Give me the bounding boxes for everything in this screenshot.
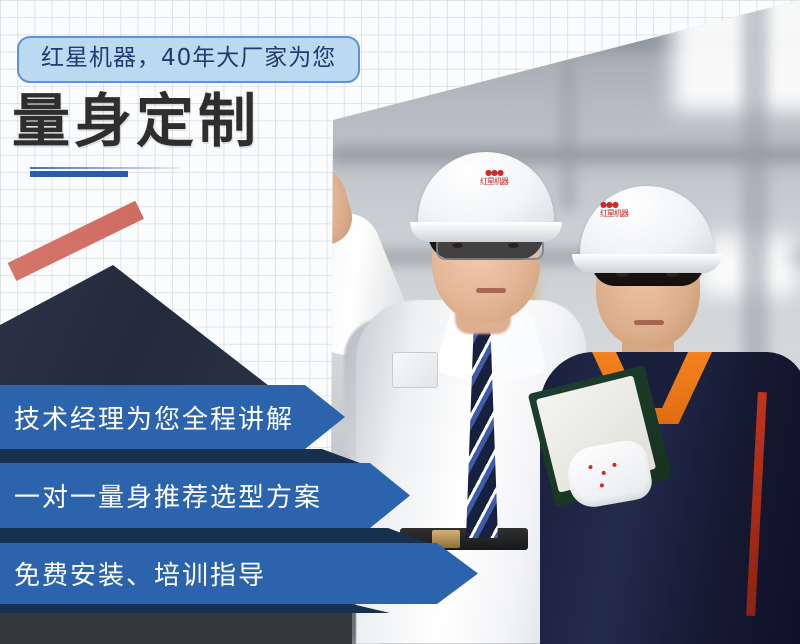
engineer-mouth [476, 288, 506, 293]
feature-bar-3: 免费安装、培训指导 [0, 543, 266, 604]
bar-separator [0, 528, 428, 543]
page-title: 量身定制 [12, 92, 260, 150]
feature-bar-1-label: 技术经理为您全程讲解 [0, 399, 294, 436]
worker-mouth [634, 320, 664, 325]
bar-separator [0, 604, 390, 613]
promo-banner: ●●●红星机器 ●●●红星机器 [0, 0, 800, 644]
engineer-eye [452, 243, 463, 248]
worker-hardhat-brim [572, 254, 722, 273]
hardhat-logo: ●●●红星机器 [600, 200, 640, 226]
hardhat-logo: ●●●红星机器 [474, 168, 514, 196]
feature-bar-2: 一对一量身推荐选型方案 [0, 463, 322, 528]
bar-separator [0, 449, 360, 463]
tagline-badge: 红星机器，40年大厂家为您 [17, 36, 360, 83]
engineer-eye [508, 243, 519, 248]
title-rule-thin [30, 167, 180, 169]
feature-bar-1: 技术经理为您全程讲解 [0, 385, 294, 449]
title-rule-thick [30, 171, 128, 177]
engineer-badge [392, 352, 438, 388]
footer-block [0, 613, 352, 644]
feature-bar-2-label: 一对一量身推荐选型方案 [0, 477, 322, 514]
engineer-hardhat-brim [410, 222, 562, 242]
feature-bar-3-label: 免费安装、培训指导 [0, 555, 266, 592]
